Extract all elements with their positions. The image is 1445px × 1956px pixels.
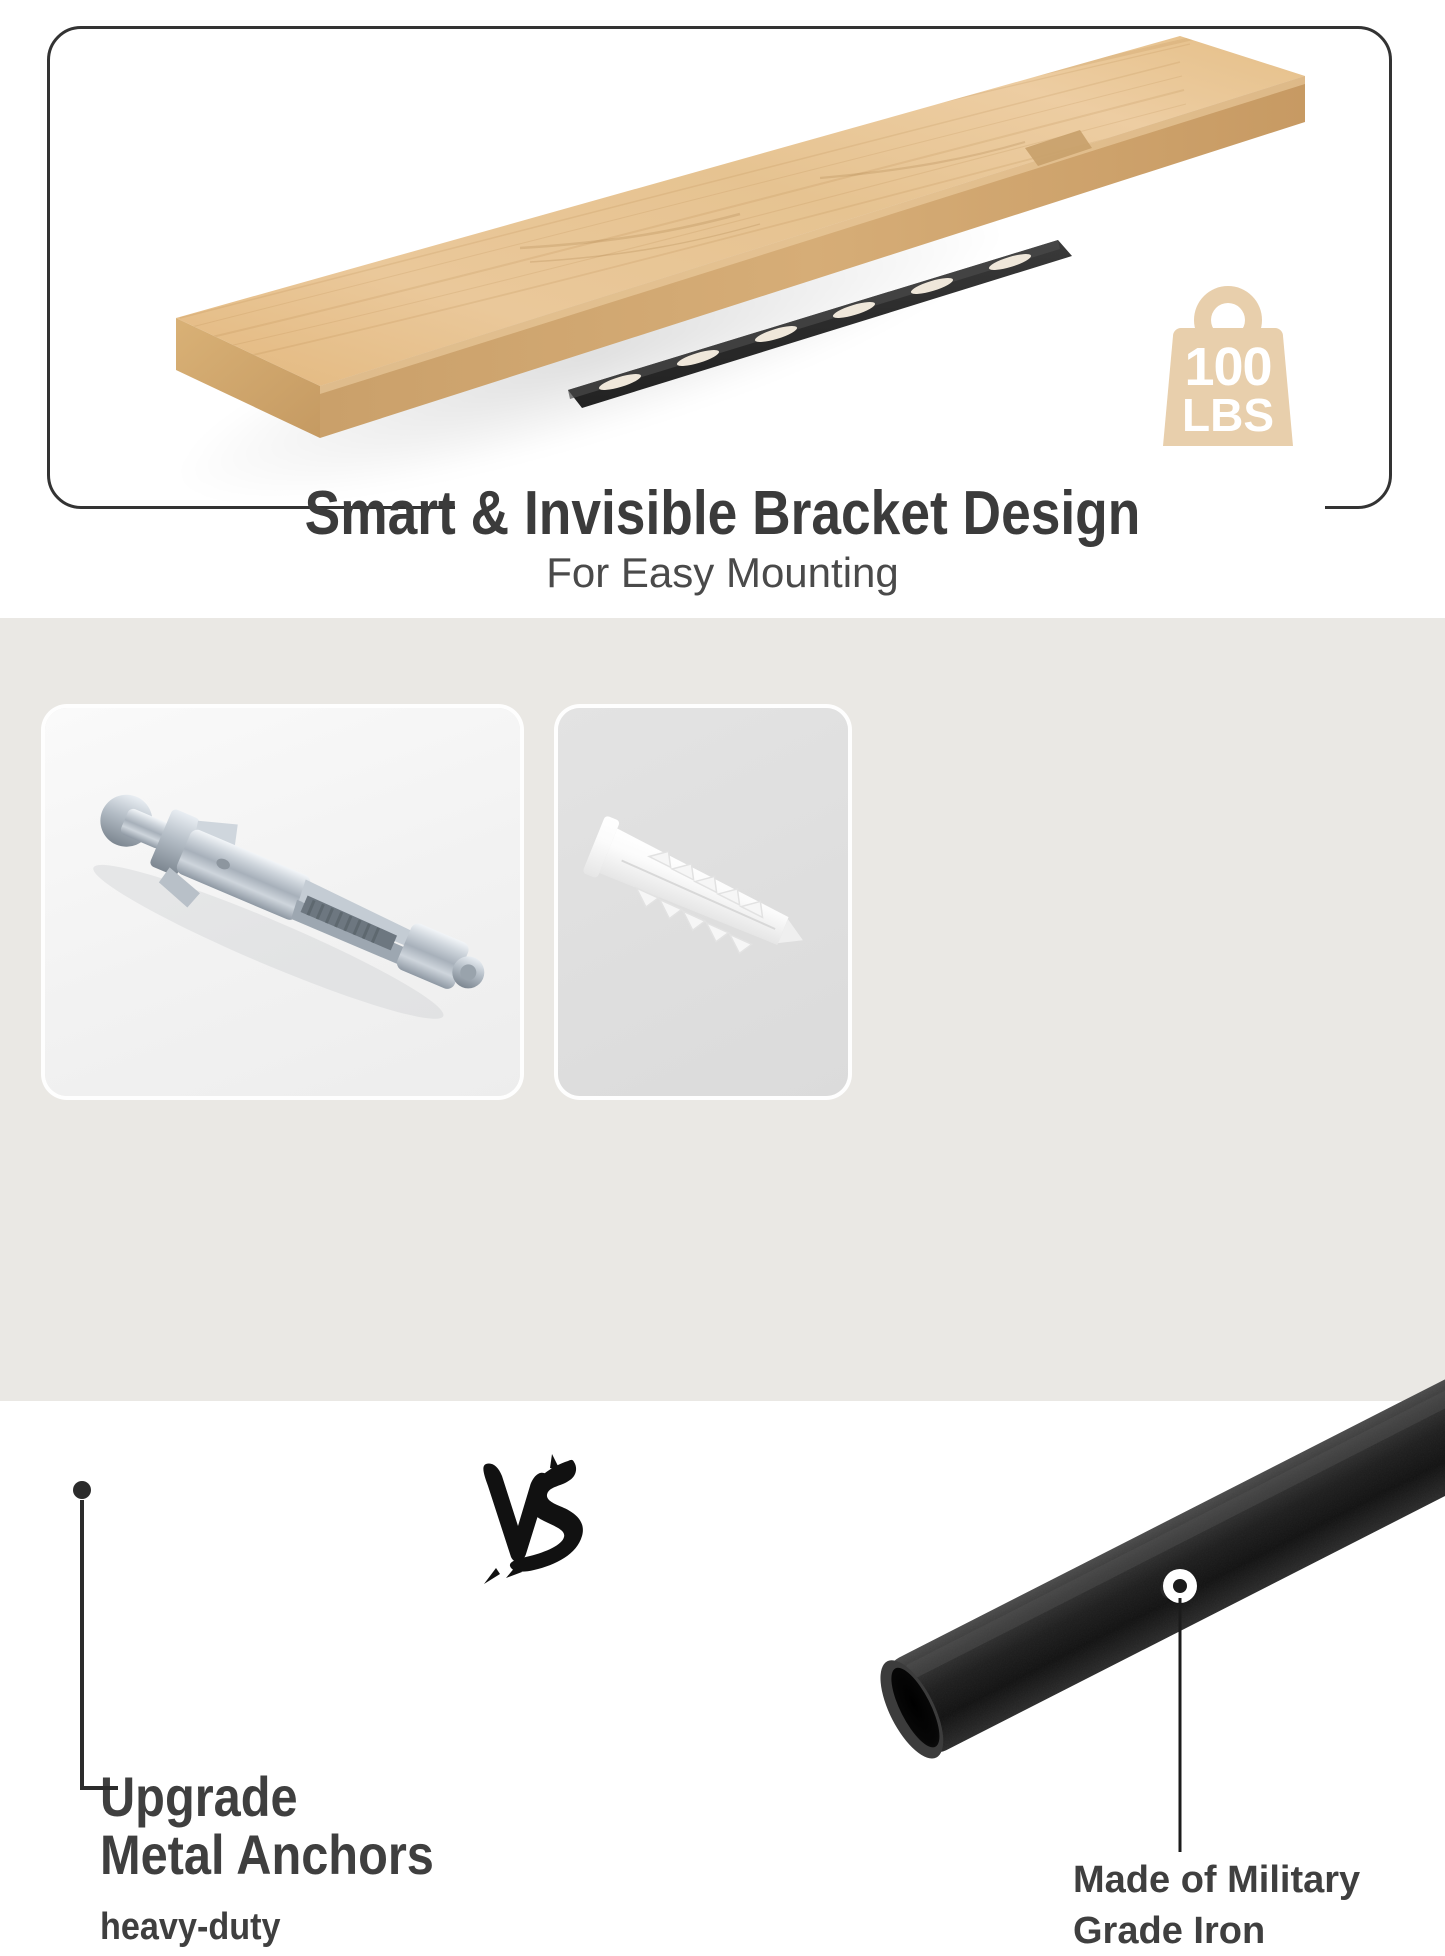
bottom-panel: Upgrade Metal Anchors heavy-duty Made of…	[0, 618, 1445, 1401]
black-iron-tube-icon	[830, 1318, 1445, 1838]
weight-capacity-badge: 100 LBS	[1133, 278, 1323, 453]
iron-rod-image	[830, 1318, 1445, 1838]
top-panel: 100 LBS Smart & Invisible Bracket Design…	[0, 0, 1445, 618]
iron-rod-callout-leader	[1150, 1568, 1210, 1858]
page-headline: Smart & Invisible Bracket Design	[101, 478, 1344, 549]
metal-anchor-callout-leader	[60, 1470, 190, 1800]
iron-rod-label-line2: Grade Iron	[1073, 1906, 1443, 1956]
wood-shelf-with-bracket-icon	[120, 18, 1305, 458]
iron-rod-label: Made of Military Grade Iron	[1073, 1855, 1443, 1956]
plastic-anchor-card	[558, 708, 848, 1096]
weight-unit: LBS	[1133, 388, 1323, 442]
metal-anchor-caption: heavy-duty	[100, 1906, 604, 1949]
plastic-wall-plug-icon	[558, 708, 848, 1096]
metal-wall-anchor-icon	[45, 708, 520, 1096]
shelf-product-image	[120, 18, 1305, 458]
metal-anchor-label-line2: Metal Anchors	[100, 1826, 587, 1884]
iron-rod-label-line1: Made of Military	[1073, 1855, 1443, 1906]
vs-icon	[478, 1446, 598, 1586]
page-subheadline: For Easy Mounting	[0, 549, 1445, 597]
metal-anchor-card	[45, 708, 520, 1096]
